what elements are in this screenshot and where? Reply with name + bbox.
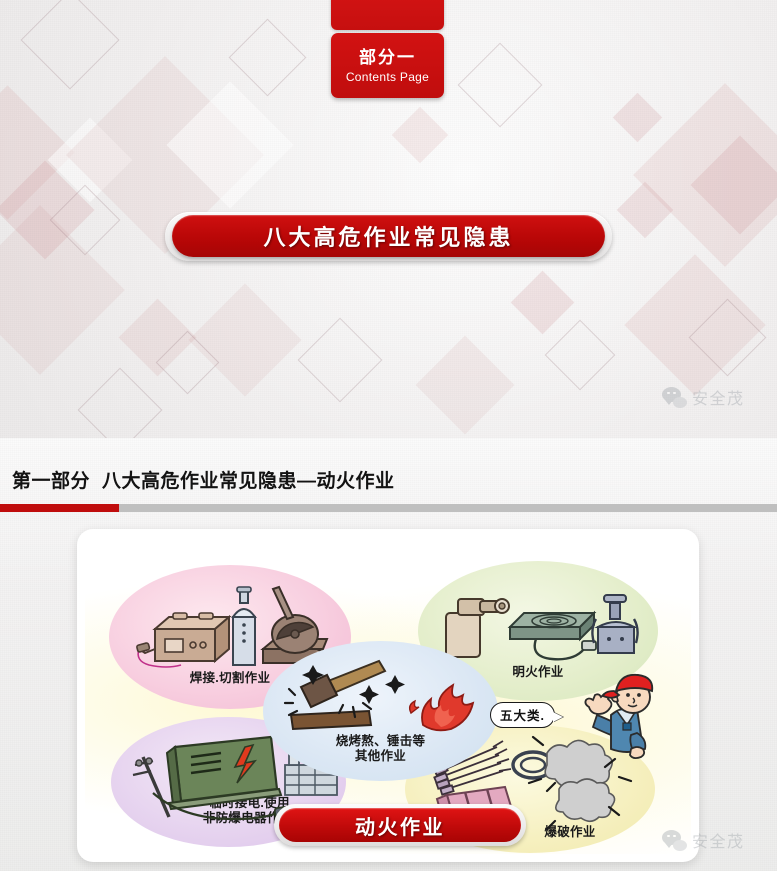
bg-diamond xyxy=(156,331,220,395)
diagram-canvas: 焊接.切割作业 xyxy=(85,537,691,854)
contents-tab-en-label: Contents Page xyxy=(346,70,429,84)
bg-diamond xyxy=(0,161,94,260)
diagram-card: 焊接.切割作业 xyxy=(77,529,699,862)
watermark-text: 安全茂 xyxy=(692,385,745,409)
hot-work-pill[interactable]: 动火作业 xyxy=(279,808,521,842)
bg-diamond xyxy=(229,19,307,97)
cover-title-text: 八大高危作业常见隐患 xyxy=(263,220,513,252)
bg-diamond xyxy=(0,85,75,219)
bg-diamond xyxy=(50,185,121,256)
contents-tab-cn-label: 部分一 xyxy=(359,47,416,68)
slide-cover: 部分一 Contents Page 八大高危作业常见隐患 安全茂 xyxy=(0,0,777,438)
callout-five-categories: 五大类. xyxy=(490,702,555,728)
bubble-open-flame-label: 明火作业 xyxy=(512,665,563,681)
bubble-other-works[interactable]: 烧烤熬、锤击等 其他作业 xyxy=(263,641,498,781)
bg-diamond xyxy=(298,318,383,403)
bg-diamond xyxy=(48,118,133,203)
slide-content: 第一部分八大高危作业常见隐患—动火作业 xyxy=(0,438,777,871)
open-flame-illustration xyxy=(444,581,634,665)
hot-work-pill-label: 动火作业 xyxy=(355,811,445,840)
wechat-icon xyxy=(662,387,687,408)
slide-deck-page: 部分一 Contents Page 八大高危作业常见隐患 安全茂 第一部分八大高… xyxy=(0,0,777,871)
watermark-cover: 安全茂 xyxy=(662,385,745,409)
bg-diamond xyxy=(617,182,674,239)
divider-red-accent xyxy=(0,504,119,512)
contents-page-tab[interactable]: 部分一 Contents Page xyxy=(331,33,444,98)
bg-diamond xyxy=(511,271,575,335)
watermark-text: 安全茂 xyxy=(692,828,745,852)
bg-diamond xyxy=(624,254,765,395)
worker-figure xyxy=(583,671,669,781)
bg-diamond xyxy=(633,83,777,267)
hammer-fire-illustration xyxy=(283,659,483,739)
bg-diamond xyxy=(613,93,662,142)
bg-diamond xyxy=(416,336,515,435)
cover-title-bar: 八大高危作业常见隐患 xyxy=(172,215,605,257)
bg-diamond xyxy=(689,299,767,377)
bg-diamond xyxy=(458,43,543,128)
contents-tab-top-strip xyxy=(331,0,444,30)
bg-diamond xyxy=(166,81,293,208)
section-title-text: 八大高危作业常见隐患—动火作业 xyxy=(102,471,395,492)
page-title: 第一部分八大高危作业常见隐患—动火作业 xyxy=(12,466,395,493)
bg-diamond xyxy=(545,320,616,391)
bg-diamond xyxy=(21,0,120,89)
bg-diamond xyxy=(78,368,163,438)
section-part-label: 第一部分 xyxy=(12,471,90,492)
bg-diamond xyxy=(188,283,301,396)
bg-diamond xyxy=(392,107,449,164)
bg-diamond xyxy=(0,205,125,375)
bg-diamond xyxy=(691,136,777,235)
bg-diamond xyxy=(119,299,197,377)
